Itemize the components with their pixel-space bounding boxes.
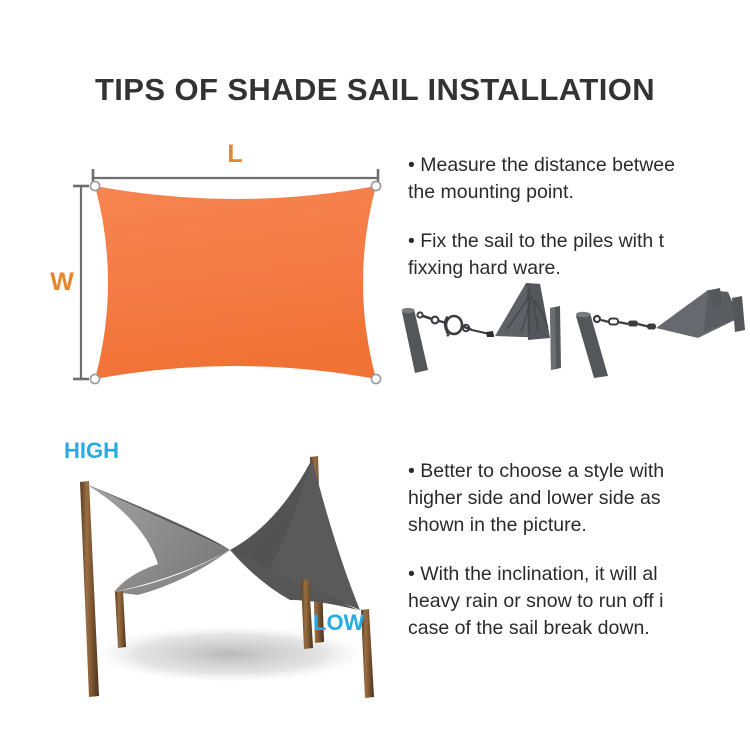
infographic-page: TIPS OF SHADE SAIL INSTALLATION — [0, 0, 750, 750]
sail-corner-triangle — [495, 283, 561, 370]
hardware-assembly-right — [576, 288, 745, 378]
tip-choose-style: • Better to choose a style with higher s… — [408, 458, 750, 539]
tips-list-top: • Measure the distance betwee the mounti… — [408, 152, 750, 282]
hardware-diagram-svg — [398, 278, 750, 378]
width-label: W — [50, 268, 74, 296]
tip-inclination-runoff: • With the inclination, it will al heavy… — [408, 561, 750, 642]
low-label: LOW — [313, 610, 365, 635]
sail-corner-triangle — [656, 288, 745, 338]
d-ring-icon — [486, 331, 494, 337]
grommet-icon — [371, 181, 380, 190]
width-dimension-line — [73, 186, 89, 379]
tips-list-bottom: • Better to choose a style with higher s… — [408, 458, 750, 642]
length-label: L — [227, 140, 242, 168]
hardware-assembly-left — [402, 283, 561, 373]
chain-icon — [594, 316, 656, 330]
page-title: TIPS OF SHADE SAIL INSTALLATION — [0, 72, 750, 108]
grommet-icon — [371, 374, 380, 383]
dimension-diagram-svg: L W — [46, 138, 396, 400]
shade-sail-shape — [95, 186, 376, 379]
turnbuckle-icon — [439, 316, 472, 337]
tip-fix-sail-to-piles: • Fix the sail to the piles with t fixxi… — [408, 228, 750, 282]
hardware-diagram — [398, 278, 750, 378]
tip-measure-distance: • Measure the distance betwee the mounti… — [408, 152, 750, 206]
length-dimension-line — [93, 169, 378, 187]
sail-panel-low-wing — [230, 459, 360, 610]
inclination-diagram: HIGH — [18, 432, 413, 717]
high-label: HIGH — [64, 438, 119, 463]
grommet-icon — [90, 181, 99, 190]
post-high-left — [80, 481, 99, 697]
grommet-icon — [90, 374, 99, 383]
dimension-diagram: L W — [46, 138, 396, 400]
shackle-icon — [417, 312, 438, 323]
inclination-diagram-svg: HIGH — [18, 432, 413, 717]
